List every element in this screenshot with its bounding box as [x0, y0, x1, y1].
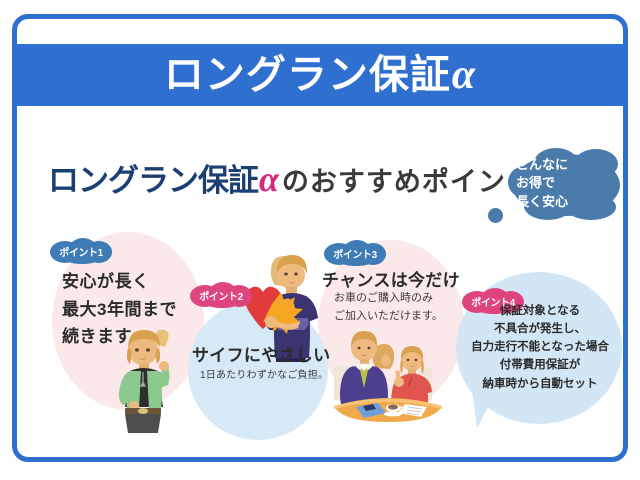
woman-green-cardigan-illustration — [112, 328, 182, 433]
point-4-badge: ポイント4 — [462, 288, 524, 314]
point-4-badge-label: ポイント4 — [462, 288, 524, 314]
subheading: ロングラン保証 α のおすすめポイント — [48, 155, 534, 200]
subheading-logo-text: ロングラン保証 — [48, 155, 258, 200]
subheading-rest-text: のおすすめポイント — [282, 160, 534, 199]
point-1-badge: ポイント1 — [50, 238, 112, 264]
title-alpha-symbol: α — [451, 54, 476, 96]
point-3-subtext: お車のご購入時のみ ご加入いただけます。 — [334, 290, 443, 325]
title-banner: ロングラン保証 α — [17, 44, 623, 106]
couple-at-table-illustration — [320, 330, 456, 428]
point-3-badge: ポイント3 — [324, 240, 386, 266]
point-2-badge-label: ポイント2 — [190, 282, 252, 308]
point-4-heading: 保証対象となる 不具合が発生し、 自力走行不能となった場合 付帯費用保証が 納車… — [458, 302, 622, 393]
thought-bubble-text: こんなに お得で 長く安心 — [516, 156, 620, 211]
point-3-heading: チャンスは今だけ — [322, 266, 460, 291]
point-2-heading: サイフにやさしい — [192, 341, 330, 366]
point-1-badge-label: ポイント1 — [50, 238, 112, 264]
thought-bubble-dot-icon — [488, 208, 503, 223]
point-2-badge: ポイント2 — [190, 282, 252, 308]
promo-poster: ロングラン保証 α ロングラン保証 α のおすすめポイント こんなに お得で 長… — [0, 0, 640, 480]
title-text: ロングラン保証 — [164, 55, 451, 95]
point-2-subtext: 1日あたりわずかなご負担。 — [200, 366, 328, 381]
subheading-alpha-symbol: α — [258, 158, 282, 200]
point-3-badge-label: ポイント3 — [324, 240, 386, 266]
